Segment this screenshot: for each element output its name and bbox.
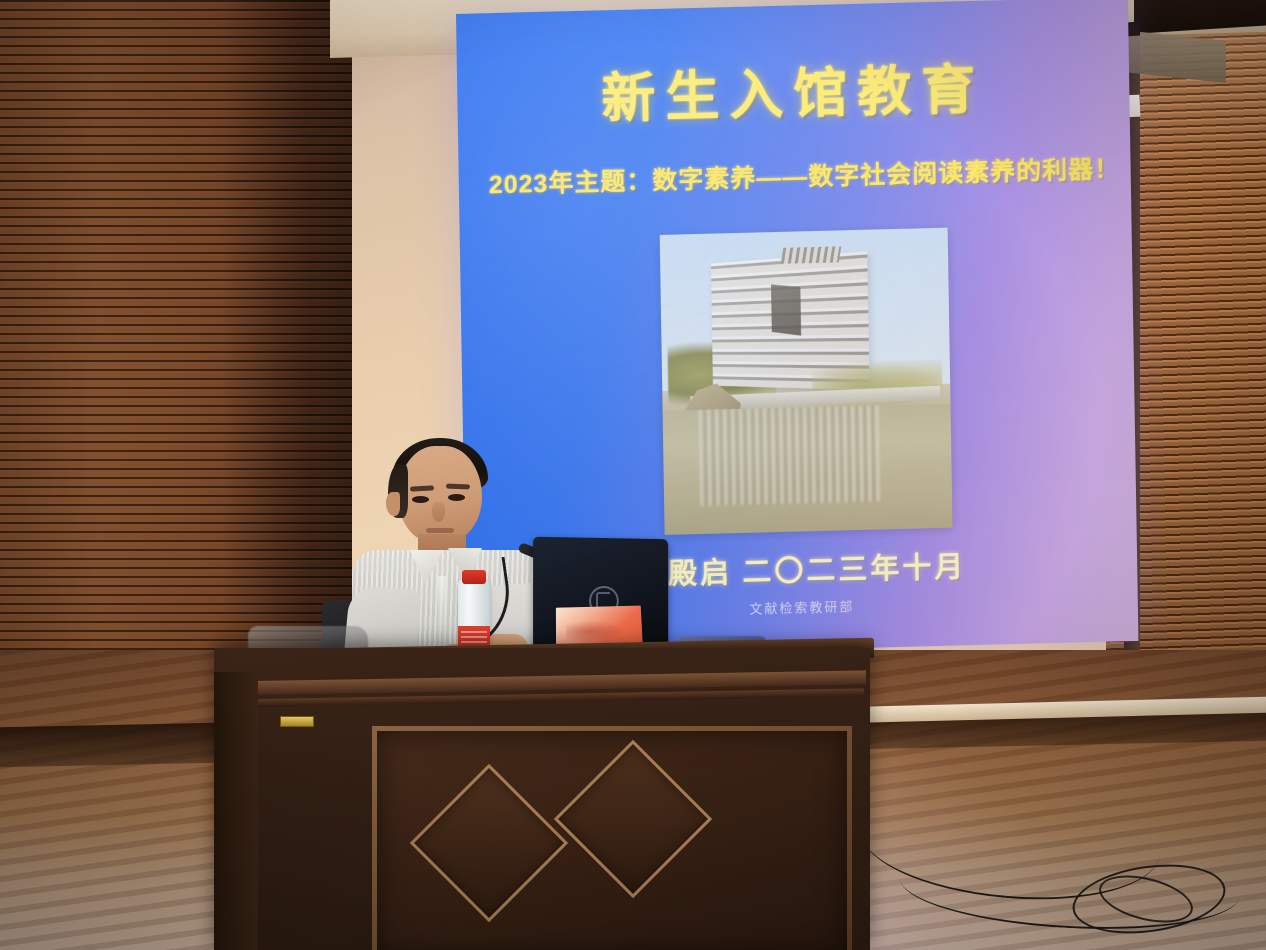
podium-diamond-right [554,740,712,898]
presenter-ear [386,492,400,516]
podium-left-side [214,672,258,950]
slide-photo-library-building [660,228,953,535]
photo-building-notch [771,284,801,335]
water-bottle-cap [462,570,486,584]
presenter-mouth [426,528,454,533]
presenter-eye-right [448,494,465,501]
ceiling-recess [1134,0,1266,34]
presenter-eyebrow-right [446,484,470,490]
slat-post-left [96,0,108,720]
podium-front-panel [372,726,852,950]
podium-gold-plaque [280,716,314,727]
presentation-photo-scene: 新生入馆教育 2023年主题：数字素养——数字社会阅读素养的利器！ 秦殿启 二〇… [0,0,1266,950]
slide-subtitle: 2023年主题：数字素养——数字社会阅读素养的利器！ [489,149,1119,201]
photo-building-roof [781,246,842,264]
podium-diamond-left [410,764,568,922]
photo-water-reflection [663,404,953,535]
presenter-eye-left [412,496,429,503]
slide-title: 新生入馆教育 [457,41,1130,137]
presenter-nose [432,502,445,522]
